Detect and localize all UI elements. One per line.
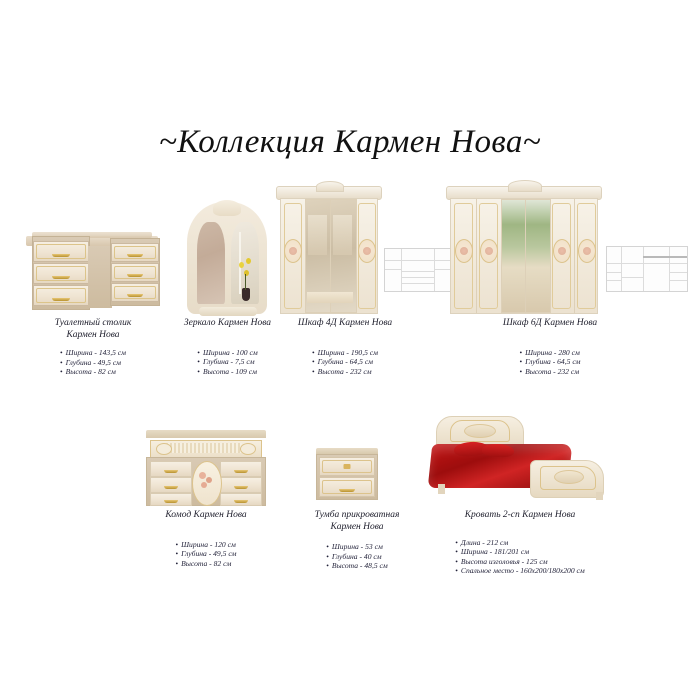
bed-photo — [420, 414, 620, 510]
spec-item: Высота - 109 см — [197, 367, 257, 377]
product-card-dressing-table: Туалетный столик Кармен Нова Ширина - 14… — [18, 222, 168, 379]
product-card-wardrobe-6d: Шкаф 6Д Кармен Нова Ширина - 280 см Глуб… — [450, 182, 690, 379]
product-title-line: Кровать 2-сп Кармен Нова — [420, 510, 620, 522]
spec-item: Глубина - 64,5 см — [312, 357, 378, 367]
spec-item: Глубина - 49,5 см — [60, 358, 126, 368]
product-title-line: Тумба прикроватная — [292, 510, 422, 522]
spec-item: Высота - 232 см — [519, 367, 580, 377]
spec-list: Длина - 212 см Ширина - 181/201 см Высот… — [455, 538, 585, 576]
spec-list: Ширина - 53 см Глубина - 40 см Высота - … — [326, 542, 388, 571]
wardrobe-4d-schematic — [384, 248, 452, 292]
product-title-line: Шкаф 6Д Кармен Нова — [450, 318, 650, 330]
product-title-line: Зеркало Кармен Нова — [165, 318, 290, 330]
spec-item: Длина - 212 см — [455, 538, 585, 548]
mirror-photo — [165, 196, 290, 318]
spec-list: Ширина - 190,5 см Глубина - 64,5 см Высо… — [312, 348, 378, 377]
spec-item: Спальное место - 160х200/180х200 см — [455, 566, 585, 576]
product-card-nightstand: Тумба прикроватная Кармен Нова Ширина - … — [292, 424, 422, 573]
product-title-line: Туалетный столик — [18, 318, 168, 330]
spec-list: Ширина - 120 см Глубина - 49,5 см Высота… — [175, 540, 236, 569]
dressing-table-photo — [18, 222, 168, 318]
wardrobe-6d-schematic — [606, 246, 688, 292]
product-card-bed: Кровать 2-сп Кармен Нова Длина - 212 см … — [420, 414, 620, 578]
product-title-line: Шкаф 4Д Кармен Нова — [280, 318, 410, 330]
spec-item: Высота изголовья - 125 см — [455, 557, 585, 567]
product-title: Туалетный столик Кармен Нова — [18, 318, 168, 341]
spec-item: Высота - 82 см — [60, 367, 126, 377]
spec-list: Ширина - 100 см Глубина - 7,5 см Высота … — [197, 348, 257, 377]
spec-list: Ширина - 280 см Глубина - 64,5 см Высота… — [519, 348, 580, 377]
wardrobe-4d-photo — [280, 182, 450, 318]
product-title: Тумба прикроватная Кармен Нова — [292, 510, 422, 533]
spec-item: Ширина - 143,5 см — [60, 348, 126, 358]
spec-item: Высота - 232 см — [312, 367, 378, 377]
commode-photo — [136, 424, 276, 510]
spec-item: Ширина - 280 см — [519, 348, 580, 358]
product-title: Зеркало Кармен Нова — [165, 318, 290, 330]
spec-item: Глубина - 49,5 см — [175, 549, 236, 559]
wardrobe-6d-photo — [450, 182, 690, 318]
product-title: Шкаф 4Д Кармен Нова — [280, 318, 410, 330]
product-title-line: Кармен Нова — [292, 522, 422, 534]
product-title-line: Комод Кармен Нова — [136, 510, 276, 522]
spec-item: Глубина - 7,5 см — [197, 357, 257, 367]
product-title-line: Кармен Нова — [18, 330, 168, 342]
product-title: Шкаф 6Д Кармен Нова — [450, 318, 650, 330]
spec-item: Ширина - 190,5 см — [312, 348, 378, 358]
spec-item: Глубина - 40 см — [326, 552, 388, 562]
spec-item: Ширина - 100 см — [197, 348, 257, 358]
catalog-page: ~Коллекция Кармен Нова~ Туалетный столик — [0, 0, 700, 700]
spec-item: Глубина - 64,5 см — [519, 357, 580, 367]
spec-item: Ширина - 181/201 см — [455, 547, 585, 557]
spec-list: Ширина - 143,5 см Глубина - 49,5 см Высо… — [60, 348, 126, 377]
product-card-mirror: Зеркало Кармен Нова Ширина - 100 см Глуб… — [165, 196, 290, 379]
spec-item: Высота - 48,5 см — [326, 561, 388, 571]
product-card-commode: Комод Кармен Нова Ширина - 120 см Глубин… — [136, 424, 276, 571]
spec-item: Ширина - 120 см — [175, 540, 236, 550]
page-title: ~Коллекция Кармен Нова~ — [0, 124, 700, 161]
spec-item: Высота - 82 см — [175, 559, 236, 569]
spec-item: Ширина - 53 см — [326, 542, 388, 552]
product-title: Кровать 2-сп Кармен Нова — [420, 510, 620, 522]
nightstand-photo — [292, 424, 422, 510]
product-card-wardrobe-4d: Шкаф 4Д Кармен Нова Ширина - 190,5 см Гл… — [280, 182, 450, 379]
product-title: Комод Кармен Нова — [136, 510, 276, 522]
